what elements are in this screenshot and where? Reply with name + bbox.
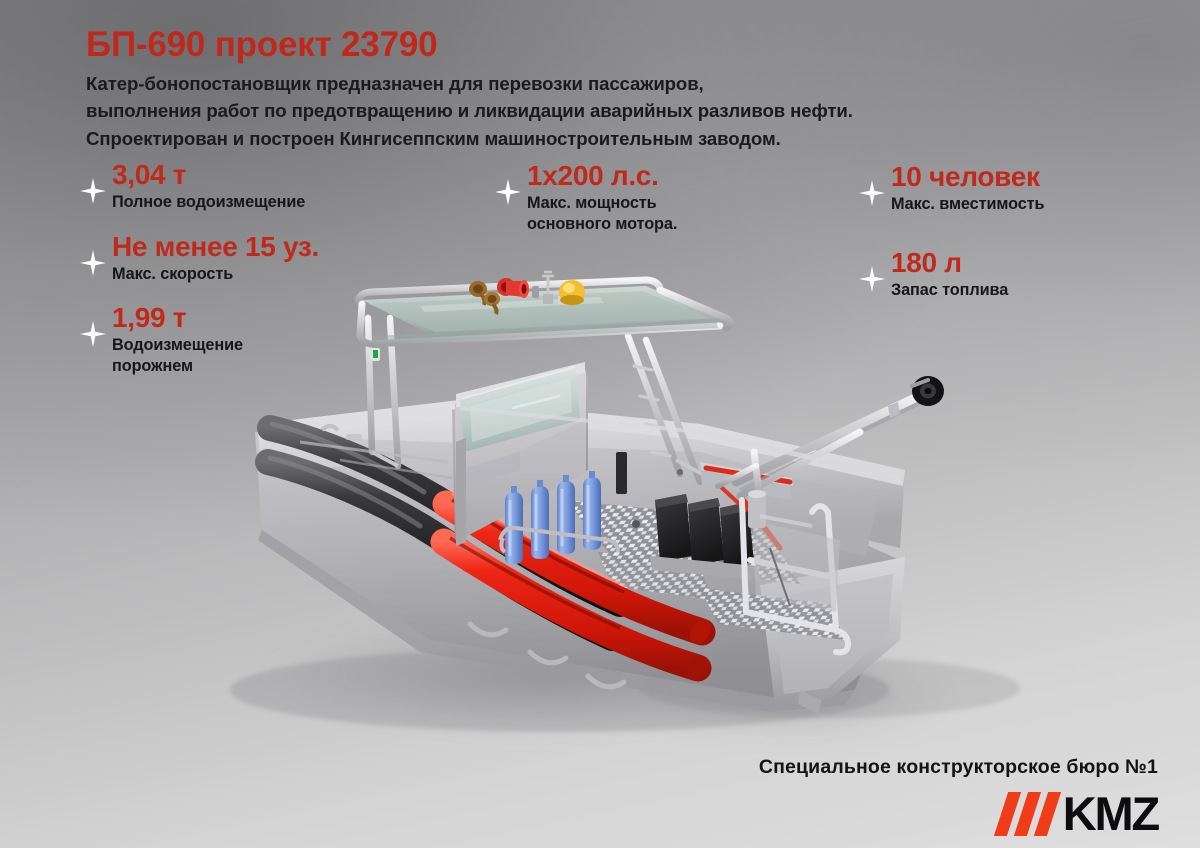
amber-beacon-light — [559, 280, 585, 305]
description-line-1: Катер-бонопостановщик предназначен для п… — [86, 70, 966, 97]
stern-safety-railing — [742, 500, 848, 652]
console-top-rim — [456, 362, 585, 410]
hull-bottom — [255, 432, 900, 700]
stat-label-line: Запас топлива — [891, 280, 1008, 301]
stat-displacement-full: 3,04 т Полное водоизмещение — [112, 160, 305, 213]
stat-value: 1х200 л.с. — [527, 161, 677, 191]
stat-capacity: 10 человек Макс. вместимость — [891, 162, 1044, 215]
stat-displacement-light: 1,99 т Водоизмещение порожнем — [112, 303, 243, 377]
stat-label-line: основного мотора. — [527, 214, 677, 235]
floor-shadow — [170, 600, 930, 750]
infographic-poster: БП-690 проект 23790 Катер-бонопостановщи… — [0, 0, 1200, 848]
bronze-horn — [469, 281, 500, 314]
stat-label-line: Макс. скорость — [112, 264, 319, 285]
stat-label-line: Водоизмещение — [112, 335, 243, 356]
canopy-ladder-rungs — [634, 366, 670, 456]
stern-crane-davit — [718, 376, 944, 528]
stat-fuel: 180 л Запас топлива — [891, 248, 1008, 301]
stat-label: Полное водоизмещение — [112, 192, 305, 213]
stat-value: 3,04 т — [112, 160, 305, 190]
canopy-post-forward-left — [368, 318, 372, 452]
canopy-post-forward-right — [390, 318, 398, 466]
canopy-roof-panel — [362, 286, 722, 336]
sparkle-star-icon — [859, 266, 885, 292]
bow-fender-tube-black-lower — [268, 462, 612, 638]
stat-label-line: Макс. вместимость — [891, 194, 1044, 215]
canopy-rear-rail — [372, 326, 720, 344]
floor-shadow-secondary — [620, 640, 1050, 760]
stat-engine-power: 1х200 л.с. Макс. мощность основного мото… — [527, 161, 677, 235]
stat-value: 10 человек — [891, 162, 1044, 192]
stern-bulkhead — [700, 464, 792, 500]
anti-slip-grating-main — [565, 500, 800, 584]
bureau-caption: Специальное конструкторское бюро №1 — [759, 756, 1158, 779]
logo-wordmark: KMZ — [1063, 791, 1158, 836]
bow-grab-handle — [470, 624, 506, 635]
stat-label: Водоизмещение порожнем — [112, 335, 243, 377]
red-siren-horn — [497, 278, 529, 298]
stern-red-stripe — [706, 468, 790, 482]
transom-bracket — [798, 690, 822, 714]
stat-label: Запас топлива — [891, 280, 1008, 301]
blue-gas-cylinders — [505, 471, 601, 564]
stat-value: Не менее 15 уз. — [112, 232, 319, 262]
deck-cleat — [322, 426, 338, 430]
canopy-post-aft-left — [628, 336, 680, 474]
sparkle-star-icon — [80, 178, 106, 204]
stat-max-speed: Не менее 15 уз. Макс. скорость — [112, 232, 319, 285]
sparkle-star-icon — [859, 180, 885, 206]
description-block: Катер-бонопостановщик предназначен для п… — [86, 70, 966, 152]
crane-pulley — [912, 376, 944, 406]
stat-label: Макс. скорость — [112, 264, 319, 285]
cockpit-deck — [330, 438, 878, 556]
page-title: БП-690 проект 23790 — [86, 27, 437, 64]
stat-label-line: порожнем — [112, 356, 243, 377]
stat-value: 180 л — [891, 248, 1008, 278]
black-seat-cushions — [655, 494, 754, 568]
anti-slip-grating-stern — [700, 588, 845, 640]
stat-label: Макс. вместимость — [891, 194, 1044, 215]
stat-label: Макс. мощность основного мотора. — [527, 193, 677, 235]
bow-fender-tube-red-lower — [444, 542, 698, 668]
stern-transom — [760, 557, 905, 706]
canopy-front-rail — [358, 280, 660, 302]
stat-value: 1,99 т — [112, 303, 243, 333]
sparkle-star-icon — [80, 321, 106, 347]
aft-upright-post — [616, 452, 627, 494]
description-line-2: выполнения работ по предотвращению и лик… — [86, 97, 966, 124]
mast-antenna — [532, 272, 567, 304]
sparkle-star-icon — [495, 179, 521, 205]
console-side-left — [452, 372, 588, 540]
sparkle-star-icon — [80, 250, 106, 276]
cylinder-rail — [500, 528, 618, 552]
bow-fender-tube-black-upper — [270, 428, 620, 604]
canopy-post-aft-right — [646, 340, 700, 482]
gunwale-rubrail — [700, 432, 900, 478]
green-navigation-light — [371, 348, 380, 361]
bow-fender-tube-red-upper — [446, 504, 702, 632]
gunwale-deck — [258, 400, 905, 548]
logo-slashes-icon — [1001, 792, 1054, 836]
windscreen-glass — [460, 368, 580, 452]
stat-label-line: Макс. мощность — [527, 193, 677, 214]
description-line-3: Спроектирован и построен Кингисеппским м… — [86, 125, 966, 152]
kmz-logo: KMZ — [1001, 788, 1158, 840]
stat-label-line: Полное водоизмещение — [112, 192, 305, 213]
